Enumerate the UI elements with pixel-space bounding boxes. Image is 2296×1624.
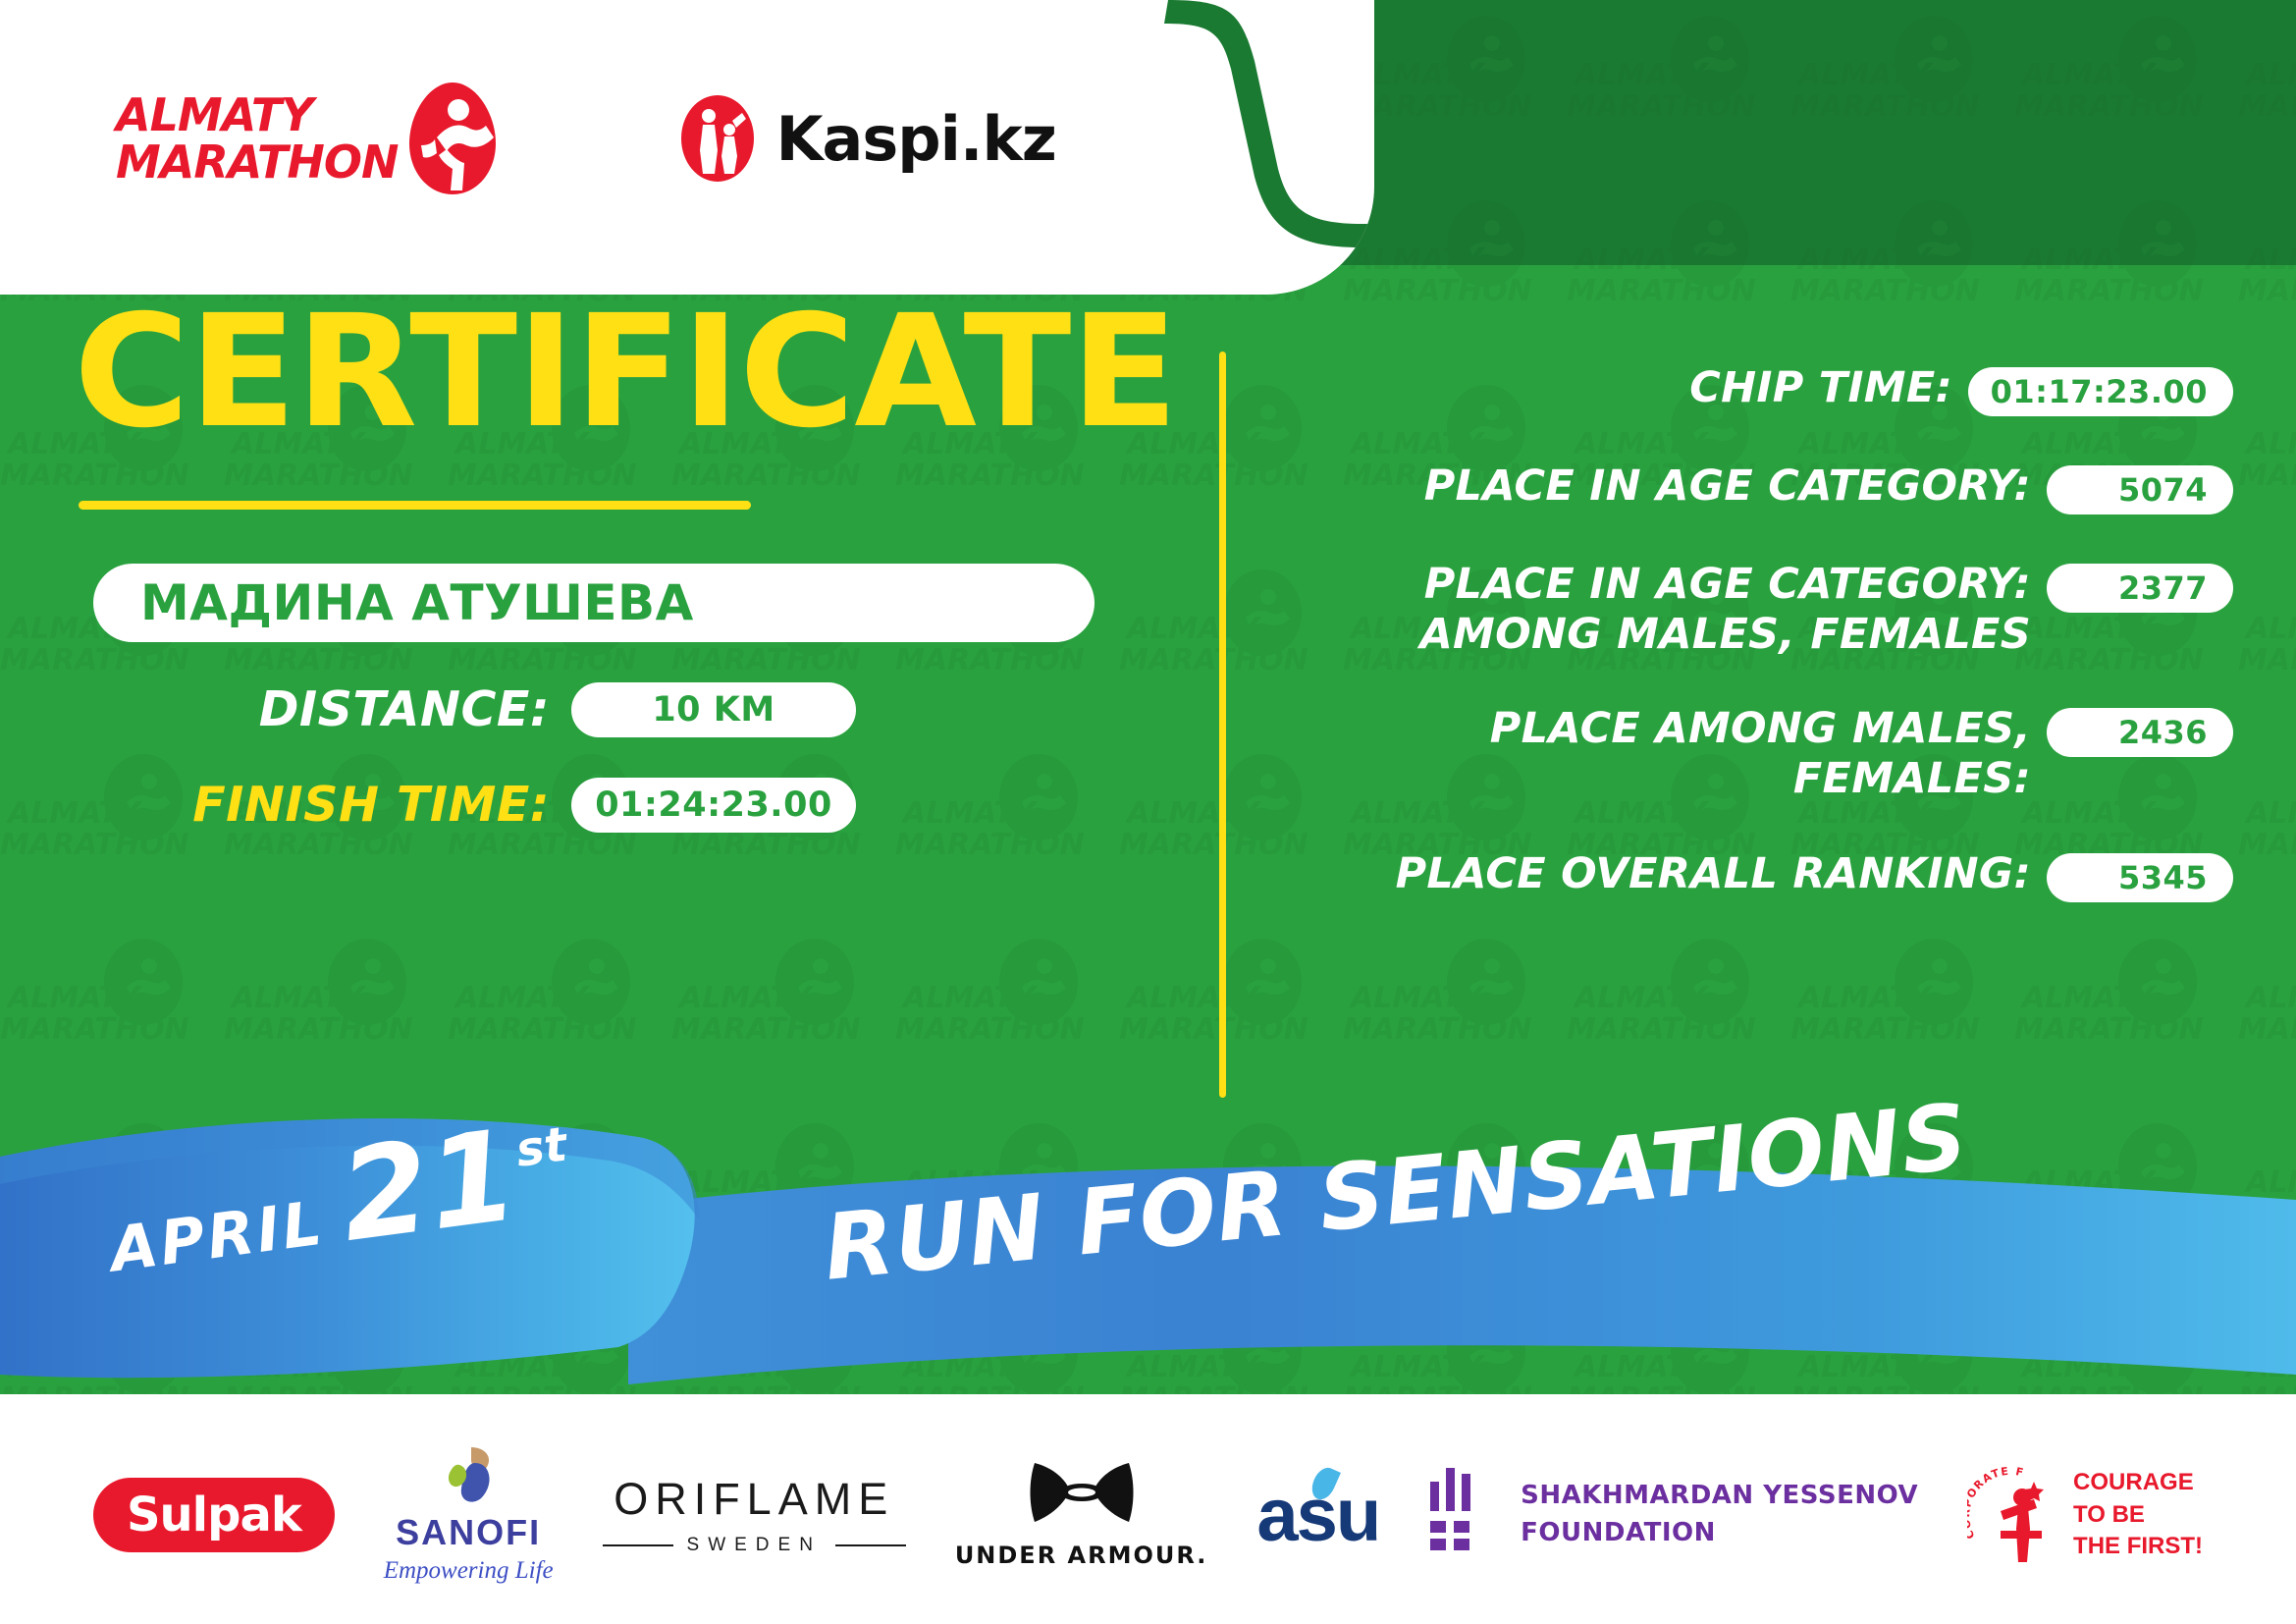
event-day-ordinal: st xyxy=(512,1117,569,1178)
courage-line3: THE FIRST! xyxy=(2073,1531,2203,1562)
yessenov-line1: SHAKHMARDAN YESSENOV xyxy=(1521,1478,1918,1515)
distance-row: DISTANCE: 10 KM xyxy=(0,681,1207,737)
results-column: CHIP TIME: 01:17:23.00 PLACE IN AGE CATE… xyxy=(1261,363,2233,947)
participant-name-field: МАДИНА АТУШЕВА xyxy=(93,564,1095,642)
sulpak-logo: Sulpak xyxy=(93,1478,335,1552)
sanofi-name: SANOFI xyxy=(396,1512,541,1553)
result-value-pill: 5345 xyxy=(2047,853,2233,902)
result-value: 2377 xyxy=(2118,569,2233,607)
header-logos: ALMATY MARATHON Kaspi.kz xyxy=(0,0,1158,277)
result-label: PLACE IN AGE CATEGORY: AMONG MALES, FEMA… xyxy=(1261,560,2047,659)
finish-time-value: 01:24:23.00 xyxy=(595,785,832,825)
result-value: 01:17:23.00 xyxy=(1991,373,2233,410)
finish-time-label: FINISH TIME: xyxy=(0,777,550,833)
kaspi-people-icon xyxy=(679,93,756,184)
result-value-pill: 2377 xyxy=(2047,564,2233,613)
result-value: 5074 xyxy=(2118,471,2233,509)
distance-value-pill: 10 KM xyxy=(571,682,856,737)
result-row-overall: PLACE OVERALL RANKING: 5345 xyxy=(1261,849,2233,902)
sponsors-bar: Sulpak SANOFI Empowering Life ORIFLAME S… xyxy=(0,1406,2296,1624)
oriflame-country: SWEDEN xyxy=(687,1535,822,1556)
yessenov-line2: FOUNDATION xyxy=(1521,1515,1918,1552)
event-ribbon: APRIL 21 st RUN FOR SENSATIONS xyxy=(0,1090,2296,1424)
sponsor-sulpak: Sulpak xyxy=(93,1478,335,1552)
result-label: PLACE AMONG MALES, FEMALES: xyxy=(1261,704,2047,803)
sanofi-leaf-icon xyxy=(438,1445,499,1506)
sponsor-yessenov: SHAKHMARDAN YESSENOV FOUNDATION xyxy=(1428,1468,1918,1562)
distance-value: 10 KM xyxy=(652,690,774,730)
yessenov-name: SHAKHMARDAN YESSENOV FOUNDATION xyxy=(1521,1478,1918,1551)
sponsor-under-armour: UNDER ARMOUR. xyxy=(955,1461,1208,1569)
sponsor-sanofi: SANOFI Empowering Life xyxy=(384,1445,554,1585)
result-value-pill: 01:17:23.00 xyxy=(1968,367,2233,416)
sponsor-asu: asu xyxy=(1256,1473,1379,1558)
page-title: CERTIFICATE xyxy=(74,295,1230,450)
event-day: 21 xyxy=(335,1119,523,1254)
title-divider xyxy=(79,501,751,510)
certificate-root: ALMATY MARATHON ALMATY MARATHON xyxy=(0,0,2296,1624)
kaspi-label: Kaspi.kz xyxy=(775,103,1055,175)
finish-time-value-pill: 01:24:23.00 xyxy=(571,778,856,833)
result-row-gender: PLACE AMONG MALES, FEMALES: 2436 xyxy=(1261,704,2233,803)
result-row-chip-time: CHIP TIME: 01:17:23.00 xyxy=(1261,363,2233,416)
kaspi-logo: Kaspi.kz xyxy=(679,93,1055,184)
courage-name: COURAGE TO BE THE FIRST! xyxy=(2073,1467,2203,1562)
finish-time-row: FINISH TIME: 01:24:23.00 xyxy=(0,777,1207,833)
courage-line2: TO BE xyxy=(2073,1499,2203,1531)
oriflame-sub: SWEDEN xyxy=(603,1535,906,1556)
courage-line1: COURAGE xyxy=(2073,1467,2203,1498)
runner-drop-icon xyxy=(407,81,498,196)
oriflame-name: ORIFLAME xyxy=(614,1474,894,1525)
almaty-marathon-text: ALMATY MARATHON xyxy=(116,91,398,187)
sponsor-courage: CORPORATE FUND COURAGE TO BE THE FIRST! xyxy=(1967,1464,2203,1566)
asu-name: asu xyxy=(1256,1473,1379,1558)
result-label: PLACE IN AGE CATEGORY: xyxy=(1261,461,2047,512)
sponsor-oriflame: ORIFLAME SWEDEN xyxy=(603,1474,906,1556)
result-value: 5345 xyxy=(2118,859,2233,896)
result-value-pill: 5074 xyxy=(2047,465,2233,514)
courage-figure-icon: CORPORATE FUND xyxy=(1967,1464,2057,1566)
result-label: CHIP TIME: xyxy=(1261,363,1968,413)
oriflame-rule-left xyxy=(603,1544,673,1546)
distance-label: DISTANCE: xyxy=(0,681,550,737)
oriflame-rule-right xyxy=(835,1544,906,1546)
result-label: PLACE OVERALL RANKING: xyxy=(1261,849,2047,899)
almaty-marathon-logo: ALMATY MARATHON xyxy=(116,81,498,196)
under-armour-name: UNDER ARMOUR. xyxy=(955,1542,1208,1569)
sanofi-tagline: Empowering Life xyxy=(384,1557,554,1585)
result-value: 2436 xyxy=(2118,714,2233,751)
under-armour-icon xyxy=(1029,1461,1135,1532)
yessenov-bars-icon xyxy=(1428,1468,1497,1562)
column-divider xyxy=(1219,352,1226,1098)
participant-name: МАДИНА АТУШЕВА xyxy=(93,574,694,631)
result-row-age-category: PLACE IN AGE CATEGORY: 5074 xyxy=(1261,461,2233,514)
marathon-line: MARATHON xyxy=(116,138,398,186)
result-row-age-category-gender: PLACE IN AGE CATEGORY: AMONG MALES, FEMA… xyxy=(1261,560,2233,659)
result-value-pill: 2436 xyxy=(2047,708,2233,757)
almaty-line: ALMATY xyxy=(116,91,398,138)
left-column: CERTIFICATE МАДИНА АТУШЕВА DISTANCE: 10 … xyxy=(0,295,1207,833)
